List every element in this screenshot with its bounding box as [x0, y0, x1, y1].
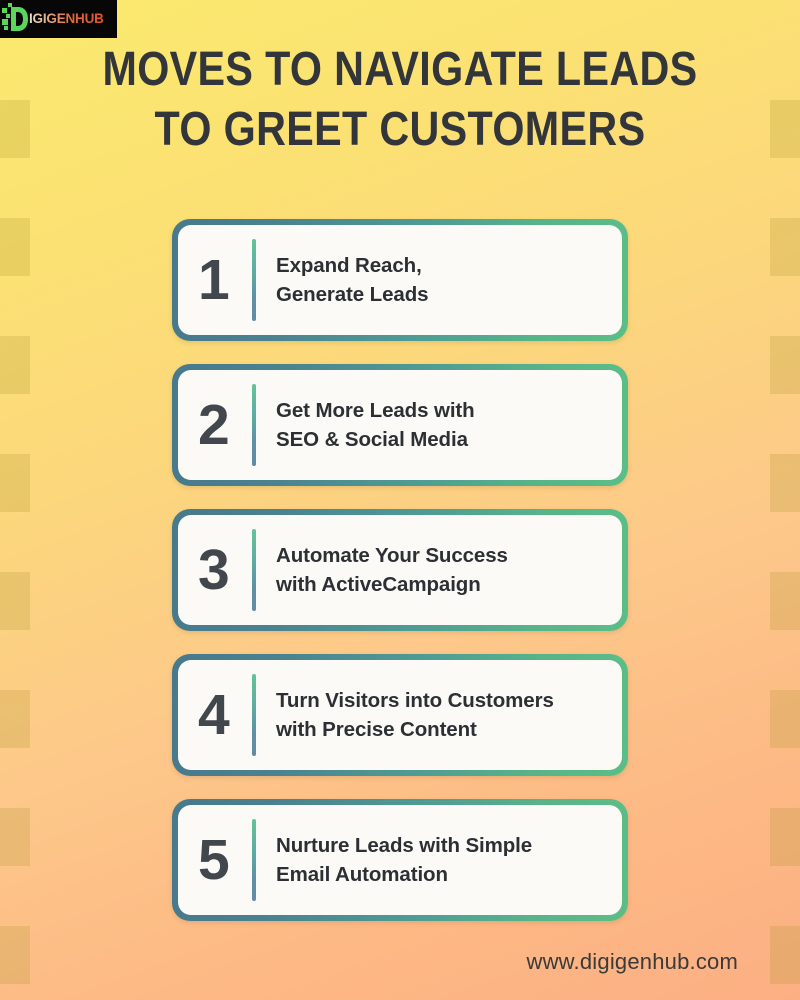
steps-list: 1Expand Reach,Generate Leads2Get More Le… [172, 219, 628, 944]
edge-square [0, 218, 30, 276]
step-card-inner: 4Turn Visitors into Customerswith Precis… [178, 660, 622, 770]
step-text-line-1: Turn Visitors into Customers [276, 686, 616, 715]
step-card: 5Nurture Leads with SimpleEmail Automati… [172, 799, 628, 921]
step-text-line-1: Get More Leads with [276, 396, 616, 425]
edge-square [770, 572, 800, 630]
step-number: 1 [198, 252, 252, 309]
page-title: MOVES TO NAVIGATE LEADS TO GREET CUSTOME… [56, 46, 744, 155]
step-text-line-2: Generate Leads [276, 280, 616, 309]
step-card: 2Get More Leads withSEO & Social Media [172, 364, 628, 486]
step-number: 3 [198, 542, 252, 599]
step-divider [252, 674, 256, 756]
step-card-inner: 5Nurture Leads with SimpleEmail Automati… [178, 805, 622, 915]
step-text-line-2: SEO & Social Media [276, 425, 616, 454]
edge-square [770, 690, 800, 748]
edge-square [770, 100, 800, 158]
edge-square [770, 218, 800, 276]
edge-square [0, 572, 30, 630]
step-card: 4Turn Visitors into Customerswith Precis… [172, 654, 628, 776]
step-text: Automate Your Successwith ActiveCampaign [276, 541, 622, 599]
step-card: 1Expand Reach,Generate Leads [172, 219, 628, 341]
step-text: Nurture Leads with SimpleEmail Automatio… [276, 831, 622, 889]
edge-square [0, 336, 30, 394]
logo-mark-icon [0, 0, 31, 38]
step-card-inner: 2Get More Leads withSEO & Social Media [178, 370, 622, 480]
step-number: 2 [198, 397, 252, 454]
edge-square [0, 454, 30, 512]
step-divider [252, 384, 256, 466]
edge-square [770, 336, 800, 394]
step-divider [252, 819, 256, 901]
step-text-line-2: with Precise Content [276, 715, 616, 744]
digigenhub-logo: IGIGENHUB [0, 0, 117, 38]
step-text-line-1: Automate Your Success [276, 541, 616, 570]
step-number: 5 [198, 832, 252, 889]
letter-d-icon [11, 7, 28, 31]
step-text-line-2: Email Automation [276, 860, 616, 889]
step-divider [252, 239, 256, 321]
step-text: Get More Leads withSEO & Social Media [276, 396, 622, 454]
step-number: 4 [198, 687, 252, 744]
edge-square [0, 100, 30, 158]
step-card-inner: 1Expand Reach,Generate Leads [178, 225, 622, 335]
title-line-1: MOVES TO NAVIGATE LEADS [56, 46, 744, 95]
footer-website-url: www.digigenhub.com [527, 949, 739, 975]
edge-square [770, 808, 800, 866]
edge-square [770, 926, 800, 984]
step-divider [252, 529, 256, 611]
logo-wordmark: IGIGENHUB [29, 12, 104, 26]
edge-square [0, 808, 30, 866]
step-text-line-1: Nurture Leads with Simple [276, 831, 616, 860]
right-edge-pattern [770, 0, 800, 1000]
edge-square [770, 454, 800, 512]
step-text: Expand Reach,Generate Leads [276, 251, 622, 309]
step-text-line-2: with ActiveCampaign [276, 570, 616, 599]
step-card-inner: 3Automate Your Successwith ActiveCampaig… [178, 515, 622, 625]
step-text: Turn Visitors into Customerswith Precise… [276, 686, 622, 744]
infographic-poster: IGIGENHUB MOVES TO NAVIGATE LEADS TO GRE… [0, 0, 800, 1000]
title-line-2: TO GREET CUSTOMERS [56, 106, 744, 155]
step-text-line-1: Expand Reach, [276, 251, 616, 280]
step-card: 3Automate Your Successwith ActiveCampaig… [172, 509, 628, 631]
edge-square [0, 690, 30, 748]
edge-square [0, 926, 30, 984]
left-edge-pattern [0, 0, 30, 1000]
